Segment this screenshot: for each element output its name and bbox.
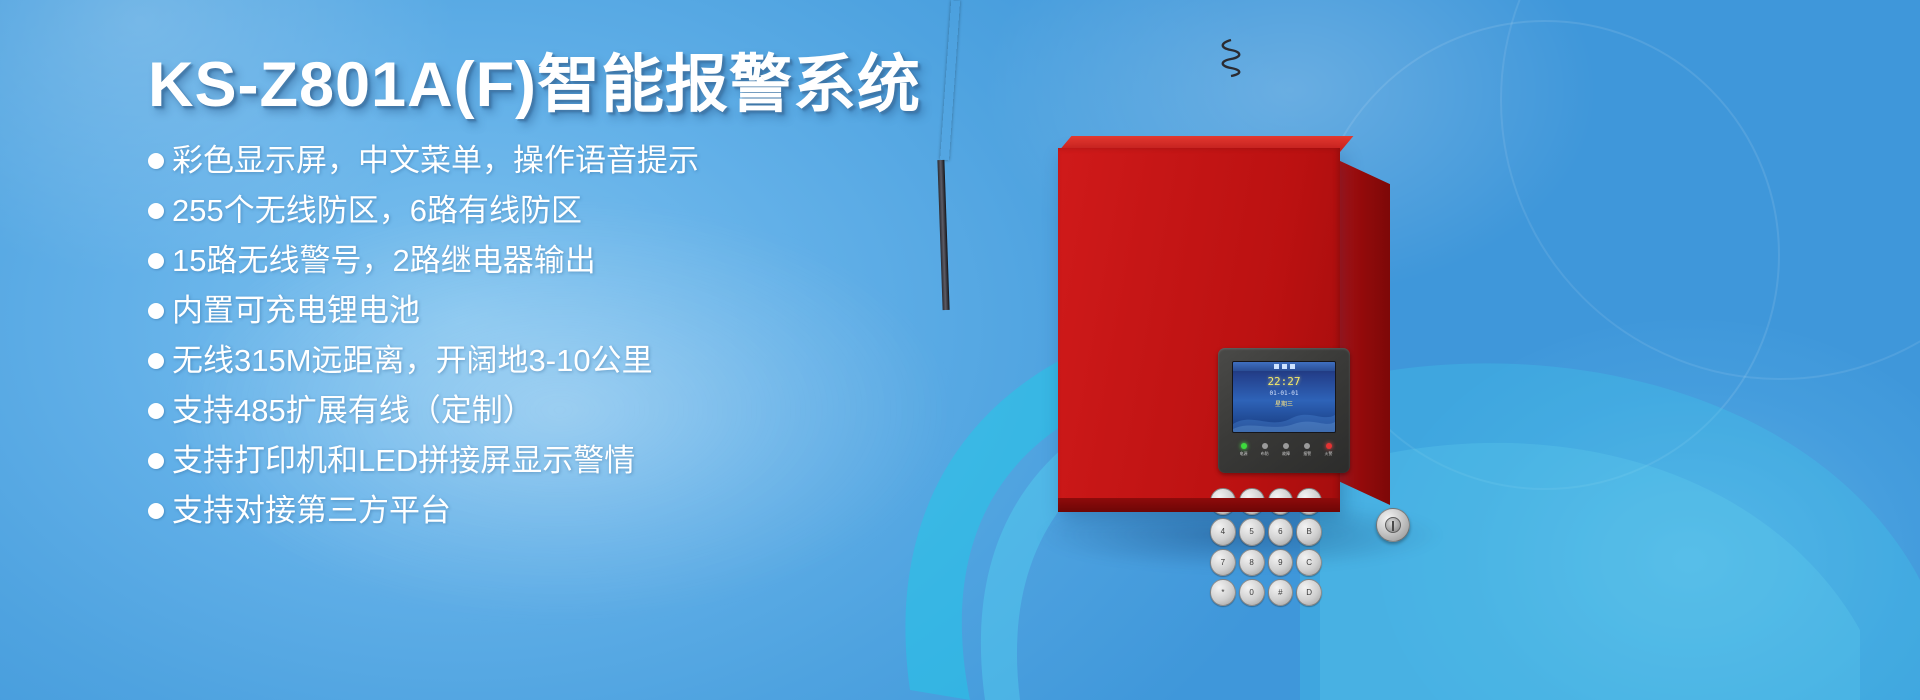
lcd-status-bar bbox=[1233, 362, 1335, 371]
led-indicator: 故障 bbox=[1277, 443, 1296, 457]
feature-label: 无线315M远距离，开阔地3-10公里 bbox=[172, 336, 653, 386]
shield-icon bbox=[1290, 364, 1295, 369]
lcd-clock: 22:27 bbox=[1233, 375, 1335, 388]
bullet-circle-icon bbox=[148, 503, 164, 519]
keypad-key[interactable]: * bbox=[1210, 579, 1236, 606]
bullet-circle-icon bbox=[148, 153, 164, 169]
keypad-key[interactable]: 7 bbox=[1210, 549, 1236, 576]
whip-antenna-icon bbox=[940, 0, 960, 160]
lcd-screen: 22:27 01-01-01 星期三 bbox=[1232, 361, 1336, 433]
key-lock-icon[interactable] bbox=[1376, 508, 1410, 542]
led-label: 故障 bbox=[1282, 451, 1290, 457]
led-arm-icon bbox=[1262, 443, 1268, 449]
led-label: 报警 bbox=[1303, 451, 1311, 457]
list-item: 彩色显示屏，中文菜单，操作语音提示 bbox=[148, 136, 968, 186]
led-fire-icon bbox=[1326, 443, 1332, 449]
list-item: 支持485扩展有线（定制） bbox=[148, 386, 968, 436]
keypad-key[interactable]: # bbox=[1268, 579, 1294, 606]
bullet-circle-icon bbox=[148, 453, 164, 469]
banner-text-block: KS-Z801A(F)智能报警系统 彩色显示屏，中文菜单，操作语音提示 255个… bbox=[148, 52, 968, 536]
feature-label: 支持485扩展有线（定制） bbox=[172, 386, 534, 436]
page-title: KS-Z801A(F)智能报警系统 bbox=[148, 52, 968, 118]
list-item: 15路无线警号，2路继电器输出 bbox=[148, 236, 968, 286]
device-bottom-edge bbox=[1058, 498, 1340, 512]
keypad-key[interactable]: 4 bbox=[1210, 518, 1236, 545]
bullet-circle-icon bbox=[148, 403, 164, 419]
lcd-housing: 22:27 01-01-01 星期三 电源 布防 故障 bbox=[1218, 348, 1350, 473]
device-front-face: 22:27 01-01-01 星期三 电源 布防 故障 bbox=[1058, 148, 1340, 510]
bullet-circle-icon bbox=[148, 253, 164, 269]
keypad-key[interactable]: 6 bbox=[1268, 518, 1294, 545]
led-alarm-icon bbox=[1304, 443, 1310, 449]
lcd-date: 01-01-01 bbox=[1233, 390, 1335, 397]
keypad-key[interactable]: 8 bbox=[1239, 549, 1265, 576]
feature-label: 255个无线防区，6路有线防区 bbox=[172, 186, 582, 236]
feature-label: 内置可充电锂电池 bbox=[172, 286, 420, 336]
led-power-icon bbox=[1241, 443, 1247, 449]
list-item: 内置可充电锂电池 bbox=[148, 286, 968, 336]
feature-label: 15路无线警号，2路继电器输出 bbox=[172, 236, 596, 286]
led-label: 火警 bbox=[1325, 451, 1333, 457]
feature-list: 彩色显示屏，中文菜单，操作语音提示 255个无线防区，6路有线防区 15路无线警… bbox=[148, 136, 968, 536]
list-item: 无线315M远距离，开阔地3-10公里 bbox=[148, 336, 968, 386]
led-indicator: 火警 bbox=[1319, 443, 1338, 457]
feature-label: 支持打印机和LED拼接屏显示警情 bbox=[172, 436, 635, 486]
keypad-key[interactable]: 5 bbox=[1239, 518, 1265, 545]
led-indicator: 布防 bbox=[1255, 443, 1274, 457]
lcd-wallpaper bbox=[1233, 406, 1335, 432]
led-fault-icon bbox=[1283, 443, 1289, 449]
lcd-weekday: 星期三 bbox=[1233, 399, 1335, 408]
list-item: 支持对接第三方平台 bbox=[148, 486, 968, 536]
bullet-circle-icon bbox=[148, 303, 164, 319]
feature-label: 支持对接第三方平台 bbox=[172, 486, 451, 536]
antenna-coil-icon bbox=[1216, 38, 1246, 78]
list-item: 255个无线防区，6路有线防区 bbox=[148, 186, 968, 236]
led-indicator-strip: 电源 布防 故障 报警 bbox=[1234, 443, 1338, 465]
bullet-circle-icon bbox=[148, 353, 164, 369]
led-indicator: 电源 bbox=[1234, 443, 1253, 457]
key-lock-slot bbox=[1392, 521, 1394, 531]
keypad-key[interactable]: 9 bbox=[1268, 549, 1294, 576]
feature-label: 彩色显示屏，中文菜单，操作语音提示 bbox=[172, 136, 699, 186]
bullet-circle-icon bbox=[148, 203, 164, 219]
battery-icon bbox=[1282, 364, 1287, 369]
led-label: 电源 bbox=[1240, 451, 1248, 457]
signal-icon bbox=[1274, 364, 1279, 369]
list-item: 支持打印机和LED拼接屏显示警情 bbox=[148, 436, 968, 486]
coil-antenna-icon bbox=[937, 160, 949, 310]
keypad-key[interactable]: 0 bbox=[1239, 579, 1265, 606]
led-indicator: 报警 bbox=[1298, 443, 1317, 457]
keypad-key[interactable]: C bbox=[1296, 549, 1322, 576]
keypad-key[interactable]: D bbox=[1296, 579, 1322, 606]
key-lock-core bbox=[1385, 517, 1401, 533]
alarm-control-panel-image: 22:27 01-01-01 星期三 电源 布防 故障 bbox=[940, 0, 1640, 700]
product-banner: KS-Z801A(F)智能报警系统 彩色显示屏，中文菜单，操作语音提示 255个… bbox=[0, 0, 1920, 700]
keypad-key[interactable]: B bbox=[1296, 518, 1322, 545]
led-label: 布防 bbox=[1261, 451, 1269, 457]
